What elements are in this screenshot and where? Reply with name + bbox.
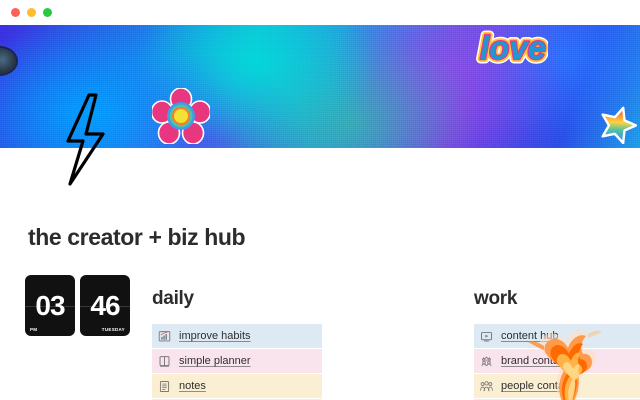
link-row-notes[interactable]: notes xyxy=(152,374,322,398)
column-heading-work: work xyxy=(474,288,626,310)
flame-figure-graphic xyxy=(516,318,628,400)
link-label: simple planner xyxy=(179,355,251,367)
rainbow-star-sticker xyxy=(598,104,638,149)
link-label: improve habits xyxy=(179,330,251,342)
flower-sticker xyxy=(152,88,210,149)
svg-text:love: love xyxy=(480,29,546,66)
minimize-window-button[interactable] xyxy=(27,8,36,17)
app-window: love love love love xyxy=(0,0,640,400)
flip-clock-widget: 03 PM 46 TUESDAY xyxy=(25,275,130,336)
chart-growth-icon xyxy=(158,330,171,343)
column-heading-daily: daily xyxy=(152,288,304,310)
document-lines-icon xyxy=(158,380,171,393)
clock-minutes-card: 46 TUESDAY xyxy=(80,275,130,336)
clock-hours-card: 03 PM xyxy=(25,275,75,336)
lightning-bolt-sticker xyxy=(62,92,112,193)
dark-circle-sticker xyxy=(0,48,16,74)
people-group-icon xyxy=(480,380,493,393)
column-daily: daily improve habits xyxy=(152,288,304,400)
group-crown-icon xyxy=(480,355,493,368)
link-row-simple-planner[interactable]: simple planner xyxy=(152,349,322,373)
link-row-improve-habits[interactable]: improve habits xyxy=(152,324,322,348)
book-icon xyxy=(158,355,171,368)
clock-minutes: 46 xyxy=(90,292,119,320)
link-label: notes xyxy=(179,380,206,392)
maximize-window-button[interactable] xyxy=(43,8,52,17)
page-title: the creator + biz hub xyxy=(28,224,245,251)
clock-meridiem: PM xyxy=(30,327,37,332)
video-play-icon xyxy=(480,330,493,343)
clock-hours: 03 xyxy=(35,292,64,320)
title-bar xyxy=(0,0,640,25)
love-sticker: love love love love xyxy=(476,25,548,82)
close-window-button[interactable] xyxy=(11,8,20,17)
clock-weekday: TUESDAY xyxy=(102,327,125,332)
traffic-light-group xyxy=(11,8,52,17)
